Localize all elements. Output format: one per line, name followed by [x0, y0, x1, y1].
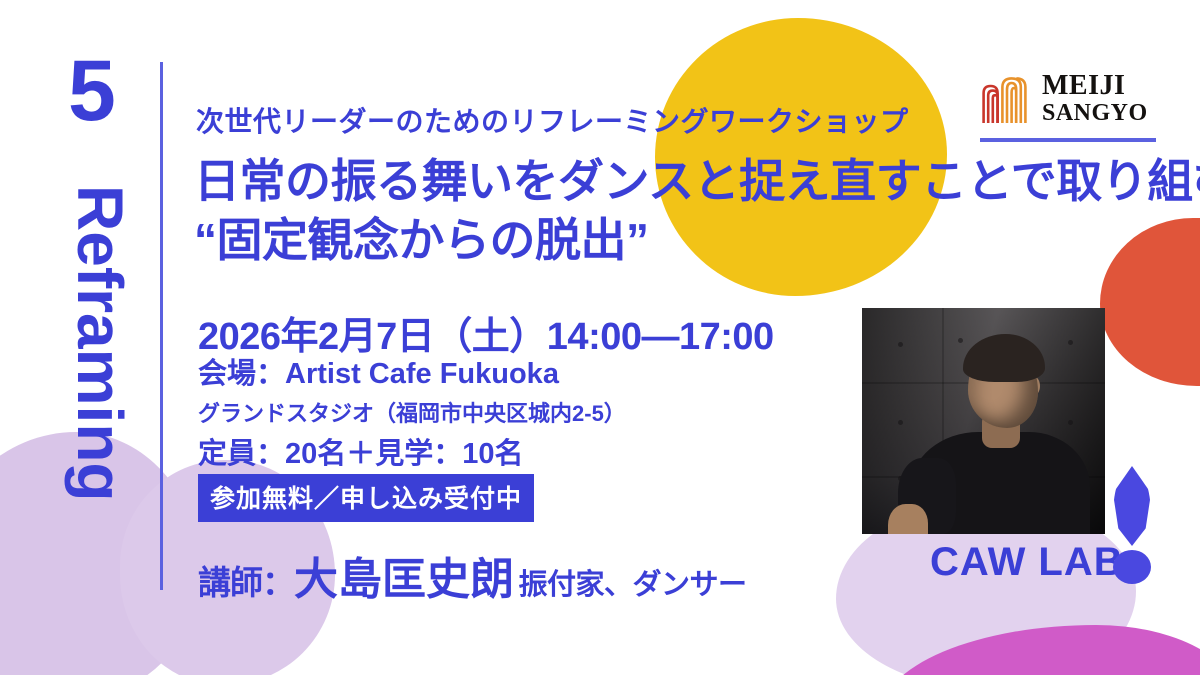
wall-bolt — [958, 338, 963, 343]
vertical-divider — [160, 62, 163, 590]
event-venue: 会場：Artist Cafe Fukuoka — [198, 350, 559, 392]
meiji-wordmark-line-1: MEIJI — [1042, 72, 1148, 101]
meiji-building-mark-icon — [980, 76, 1034, 124]
status-badge-registration[interactable]: 参加無料／申し込み受付中 — [198, 474, 534, 522]
chapter-word: Reframing — [68, 185, 132, 502]
headline-line-2: “固定観念からの脱出” — [194, 211, 1200, 270]
event-address: グランドスタジオ（福岡市中央区城内2-5） — [198, 396, 626, 428]
event-poster: 5 Reframing 次世代リーダーのためのリフレーミングワークショップ 日常… — [0, 0, 1200, 675]
eyebrow-text: 次世代リーダーのためのリフレーミングワークショップ — [196, 100, 909, 140]
instructor-portrait-photo — [862, 308, 1105, 534]
wall-bolt — [1068, 420, 1073, 425]
meiji-wordmark-line-2: SANGYO — [1042, 101, 1148, 125]
instructor-line: 講師：大島匡史朗 振付家、ダンサー — [198, 543, 746, 607]
exclamation-mark-icon — [1110, 466, 1152, 592]
instructor-label: 講師： — [198, 564, 294, 601]
instructor-name: 大島匡史朗 — [294, 555, 514, 604]
chapter-rail: 5 Reframing — [0, 0, 175, 675]
event-capacity: 定員：20名＋見学：10名 — [198, 430, 524, 472]
sponsor-logo-meiji-sangyo: MEIJI SANGYO — [980, 74, 1156, 156]
exclamation-dot-shape — [1113, 550, 1151, 584]
wall-bolt — [1068, 340, 1073, 345]
wall-bolt — [898, 420, 903, 425]
portrait-arm — [888, 504, 928, 534]
chapter-number: 5 — [68, 48, 114, 134]
meiji-wordmark: MEIJI SANGYO — [1042, 72, 1148, 125]
meiji-logo-underline — [980, 138, 1156, 142]
exclamation-drop-shape — [1113, 466, 1151, 546]
headline-line-1: 日常の振る舞いをダンスと捉え直すことで取り組む、 — [194, 152, 1200, 211]
instructor-role: 振付家、ダンサー — [518, 569, 746, 601]
caw-lab-wordmark: CAW LAB — [930, 540, 1124, 585]
page-title: 日常の振る舞いをダンスと捉え直すことで取り組む、 “固定観念からの脱出” — [194, 152, 1200, 270]
wall-bolt — [898, 342, 903, 347]
chapter-word-wrapper: Reframing — [60, 185, 136, 605]
